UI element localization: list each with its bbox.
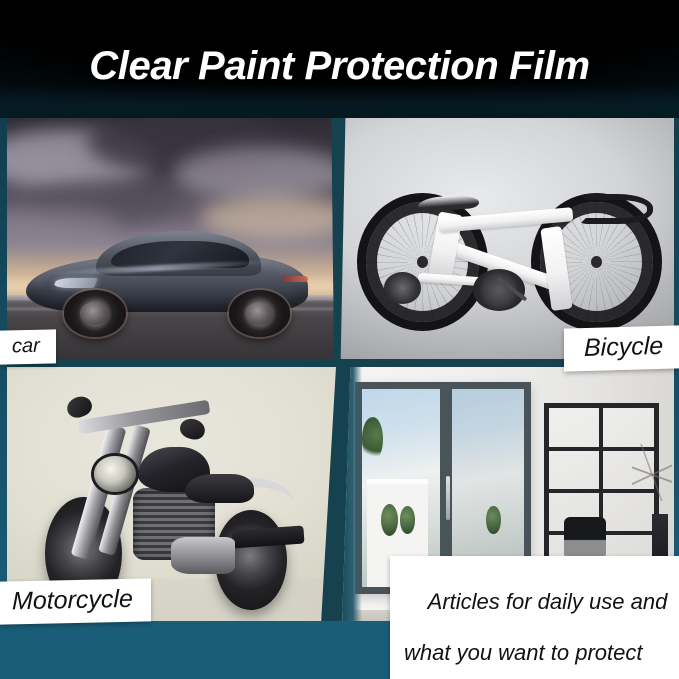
label-bicycle: Bicycle xyxy=(564,325,679,371)
label-home-line1: Articles for daily use and xyxy=(428,589,668,614)
motorcycle-exhaust xyxy=(231,526,304,549)
motorcycle-mirror-right xyxy=(177,416,206,442)
cloud-shape xyxy=(174,147,334,200)
motorcycle-headlight xyxy=(94,456,135,492)
tree-shape xyxy=(381,504,398,536)
label-home-line2: what you want to protect xyxy=(404,640,667,666)
label-motorcycle: Motorcycle xyxy=(0,578,151,624)
tree-shape xyxy=(400,506,415,534)
bicycle-wheel-rear xyxy=(357,193,488,332)
bicycle-cassette xyxy=(384,272,421,303)
label-car: car xyxy=(0,329,56,364)
panel-car[interactable] xyxy=(0,118,334,359)
panel-left-shadow xyxy=(342,367,362,625)
product-poster: Clear Paint Protection Film xyxy=(0,0,679,679)
motorcycle-seat xyxy=(185,474,254,504)
label-home-articles: Articles for daily use and what you want… xyxy=(390,556,679,679)
bicycle-handlebar xyxy=(580,194,653,223)
poster-header: Clear Paint Protection Film xyxy=(0,0,679,118)
left-teal-edge xyxy=(0,118,7,625)
application-grid xyxy=(0,118,679,625)
decorative-branch xyxy=(632,444,672,501)
car-photo xyxy=(0,118,334,359)
bicycle-crankset xyxy=(473,269,525,311)
car-headlight xyxy=(54,278,99,288)
door-handle xyxy=(446,476,450,519)
car-taillight xyxy=(282,276,308,282)
panel-bicycle[interactable] xyxy=(340,118,679,359)
table-lamp xyxy=(564,517,606,556)
bicycle-photo xyxy=(340,118,679,359)
bicycle-illustration xyxy=(357,161,662,335)
car-wheel-front xyxy=(64,290,126,337)
right-teal-edge xyxy=(674,118,679,625)
motorcycle-crankcase xyxy=(171,537,234,573)
page-title: Clear Paint Protection Film xyxy=(0,44,679,88)
motorcycle-mirror-left xyxy=(64,393,94,421)
car-wheel-rear xyxy=(229,290,291,337)
tree-shape xyxy=(486,506,500,534)
palm-foliage xyxy=(362,417,382,460)
car-illustration xyxy=(20,229,314,335)
